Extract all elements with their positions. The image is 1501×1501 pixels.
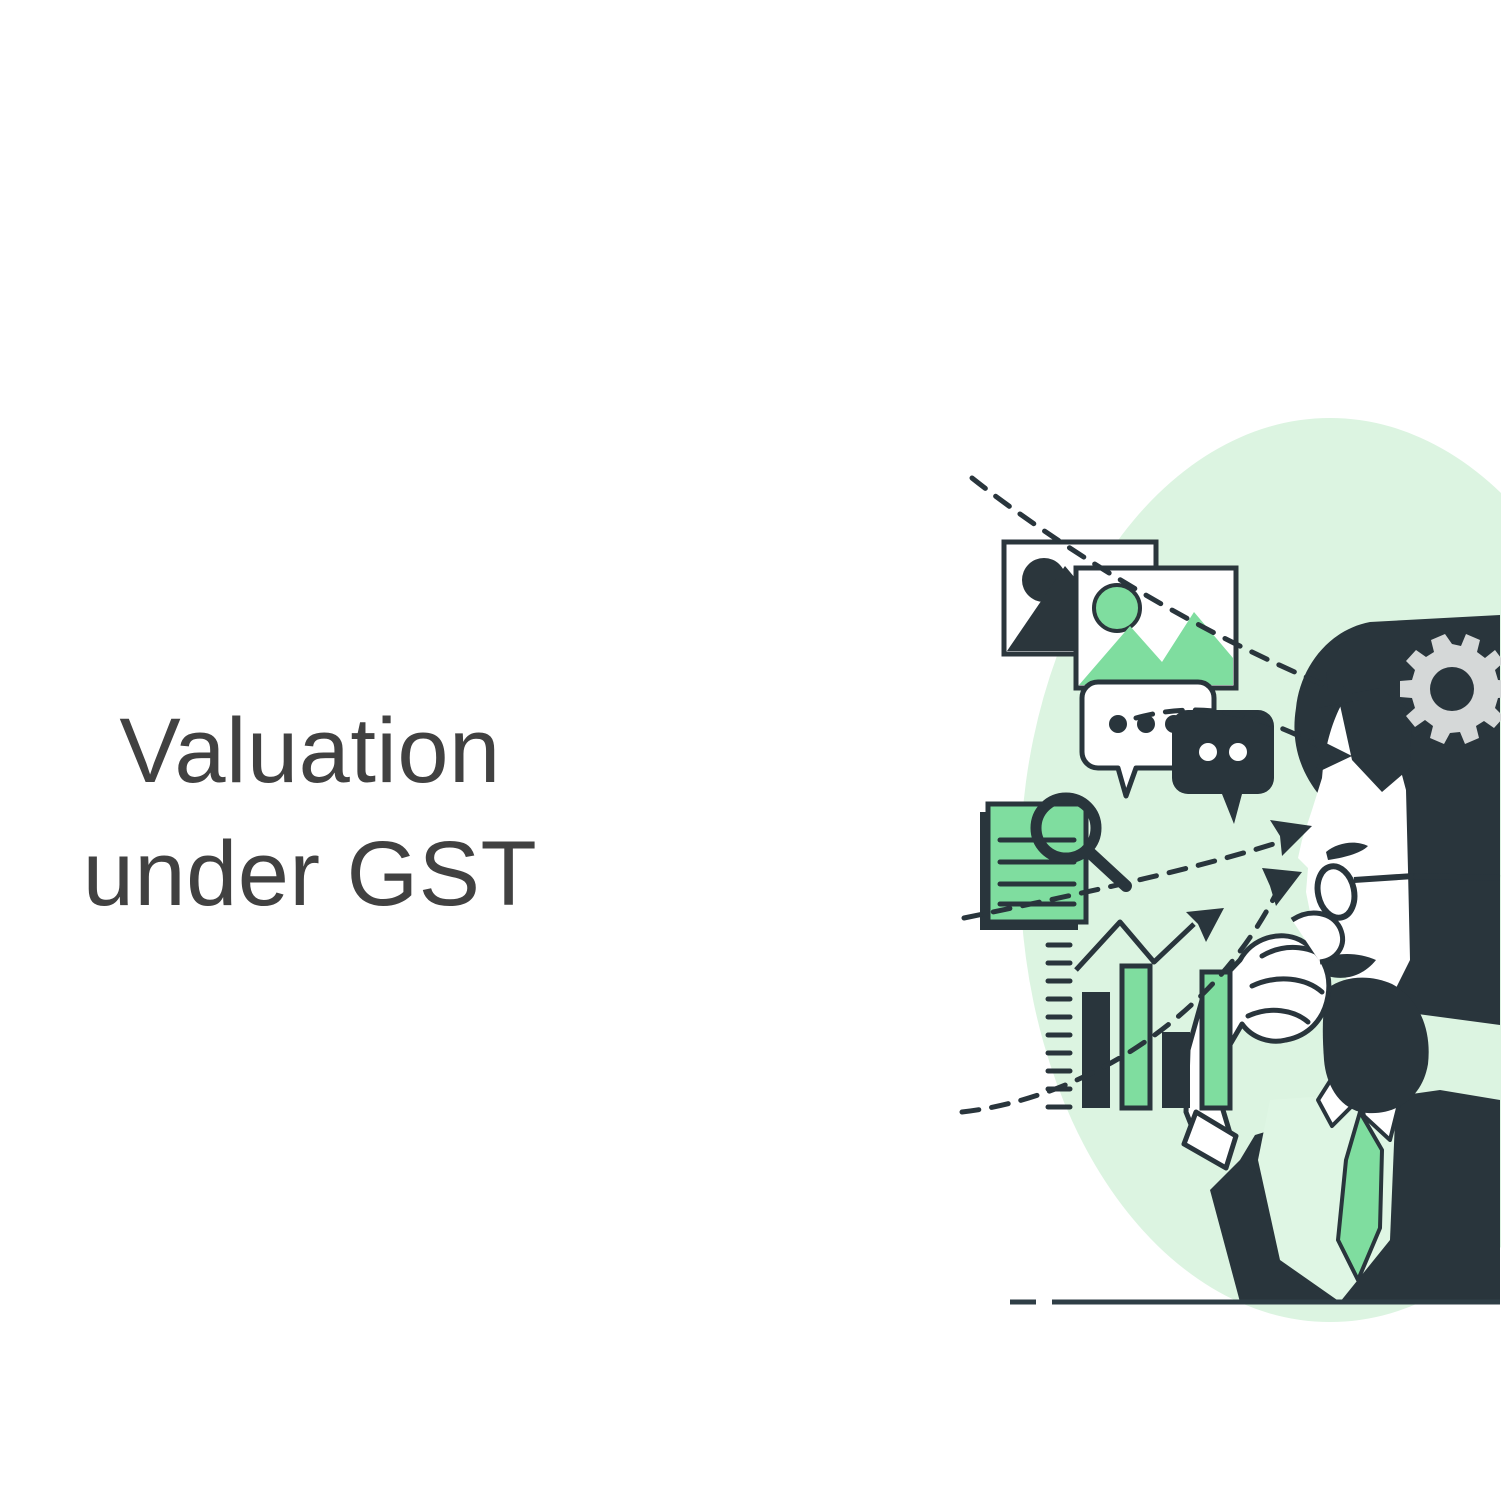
chart-bar-1 [1082, 992, 1110, 1108]
page-title-line-1: Valuation [0, 690, 620, 813]
slide-canvas: Valuation under GST [0, 0, 1501, 1501]
page-title: Valuation under GST [0, 690, 620, 936]
illustration-man-thinking [940, 400, 1501, 1360]
page-title-line-2: under GST [0, 813, 620, 936]
chart-bar-2 [1122, 966, 1150, 1108]
photo-front-sun [1094, 585, 1140, 631]
photo-icon-front [1076, 568, 1236, 688]
chart-bar-3 [1162, 1032, 1190, 1108]
